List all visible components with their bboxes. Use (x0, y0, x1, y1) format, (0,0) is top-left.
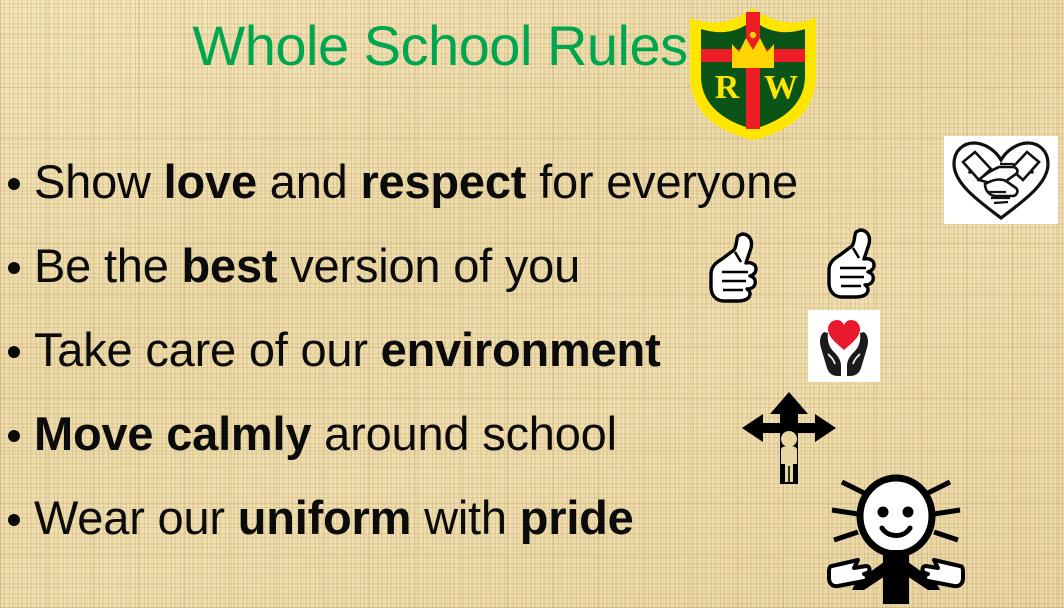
bullet-marker (8, 178, 20, 190)
slide-canvas: Whole School Rules R W Show love and res… (0, 0, 1064, 608)
crest-letter-right: W (764, 69, 798, 106)
rule-item-move-calmly: Move calmly around school (0, 392, 1064, 476)
heart-icon (828, 320, 860, 350)
rule-item-respect: Show love and respect for everyone (0, 140, 1064, 224)
thumbs-up-icon (708, 232, 766, 304)
handshake-heart-icon (944, 136, 1058, 224)
crest-letter-left: R (715, 69, 740, 106)
school-crest-logo: R W (686, 4, 820, 142)
rule-text-respect: Show love and respect for everyone (34, 157, 798, 206)
rule-item-environment: Take care of our environment (0, 308, 1064, 392)
eye-left (878, 507, 889, 518)
rule-text-environment: Take care of our environment (34, 325, 661, 374)
eye-right (903, 507, 914, 518)
rule-text-uniform-pride: Wear our uniform with pride (34, 493, 634, 542)
shield-icon: R W (686, 4, 820, 142)
rule-text-best-version: Be the best version of you (34, 241, 580, 290)
bullet-marker (8, 346, 20, 358)
rule-item-best-version: Be the best version of you (0, 224, 1064, 308)
proud-stick-figure-icon (812, 470, 980, 606)
bullet-marker (8, 262, 20, 274)
rule-text-move-calmly: Move calmly around school (34, 409, 617, 458)
hands-holding-heart-icon (808, 310, 880, 382)
bullet-marker (8, 514, 20, 526)
thumbs-up-icon (826, 228, 884, 300)
bullet-marker (8, 430, 20, 442)
